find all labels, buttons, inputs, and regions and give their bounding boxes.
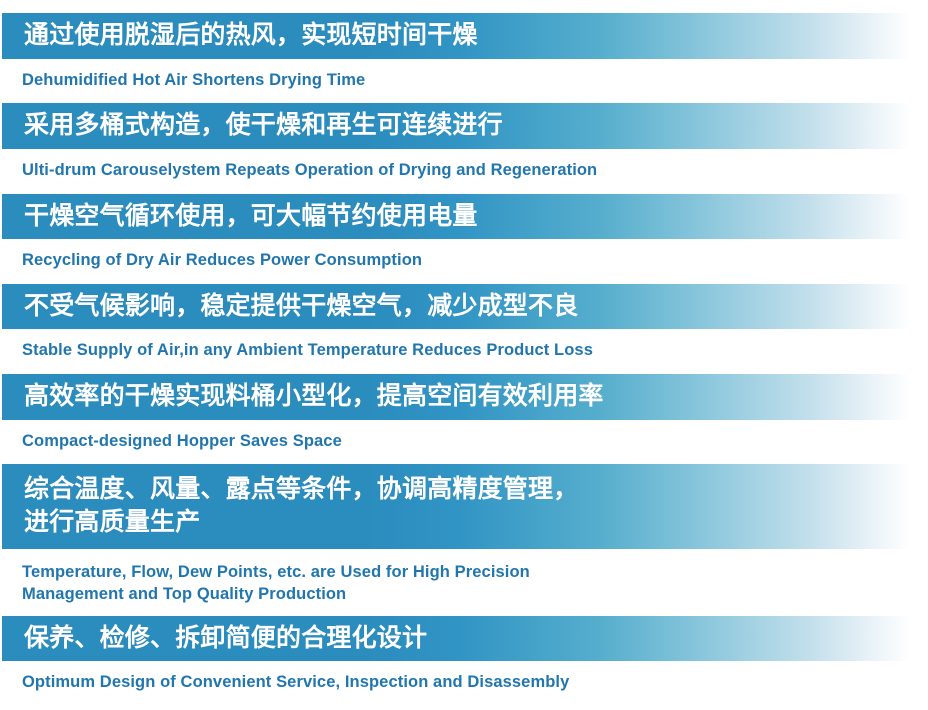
feature-banner: 通过使用脱湿后的热风，实现短时间干燥 bbox=[2, 13, 910, 59]
feature-subtitle: Ulti-drum Carouselystem Repeats Operatio… bbox=[0, 149, 928, 194]
feature-banner: 综合温度、风量、露点等条件，协调高精度管理， 进行高质量生产 bbox=[2, 464, 910, 549]
feature-subtitle: Recycling of Dry Air Reduces Power Consu… bbox=[0, 239, 928, 284]
feature-block: 干燥空气循环使用，可大幅节约使用电量 Recycling of Dry Air … bbox=[0, 194, 928, 284]
feature-block: 高效率的干燥实现料桶小型化，提高空间有效利用率 Compact-designed… bbox=[0, 374, 928, 464]
feature-block: 综合温度、风量、露点等条件，协调高精度管理， 进行高质量生产 Temperatu… bbox=[0, 464, 928, 616]
feature-list: 通过使用脱湿后的热风，实现短时间干燥 Dehumidified Hot Air … bbox=[0, 0, 928, 710]
feature-banner: 采用多桶式构造，使干燥和再生可连续进行 bbox=[2, 103, 910, 149]
feature-banner: 高效率的干燥实现料桶小型化，提高空间有效利用率 bbox=[2, 374, 910, 420]
feature-subtitle: Stable Supply of Air,in any Ambient Temp… bbox=[0, 329, 928, 374]
feature-subtitle: Temperature, Flow, Dew Points, etc. are … bbox=[0, 549, 928, 616]
feature-banner: 保养、检修、拆卸简便的合理化设计 bbox=[2, 616, 910, 662]
feature-subtitle: Optimum Design of Convenient Service, In… bbox=[0, 661, 928, 706]
feature-block: 通过使用脱湿后的热风，实现短时间干燥 Dehumidified Hot Air … bbox=[0, 0, 928, 103]
feature-block: 不受气候影响，稳定提供干燥空气，减少成型不良 Stable Supply of … bbox=[0, 284, 928, 374]
feature-subtitle: Dehumidified Hot Air Shortens Drying Tim… bbox=[0, 59, 928, 104]
feature-block: 采用多桶式构造，使干燥和再生可连续进行 Ulti-drum Carouselys… bbox=[0, 103, 928, 193]
feature-block: 保养、检修、拆卸简便的合理化设计 Optimum Design of Conve… bbox=[0, 616, 928, 706]
feature-banner: 干燥空气循环使用，可大幅节约使用电量 bbox=[2, 194, 910, 240]
feature-subtitle: Compact-designed Hopper Saves Space bbox=[0, 420, 928, 465]
feature-banner: 不受气候影响，稳定提供干燥空气，减少成型不良 bbox=[2, 284, 910, 330]
